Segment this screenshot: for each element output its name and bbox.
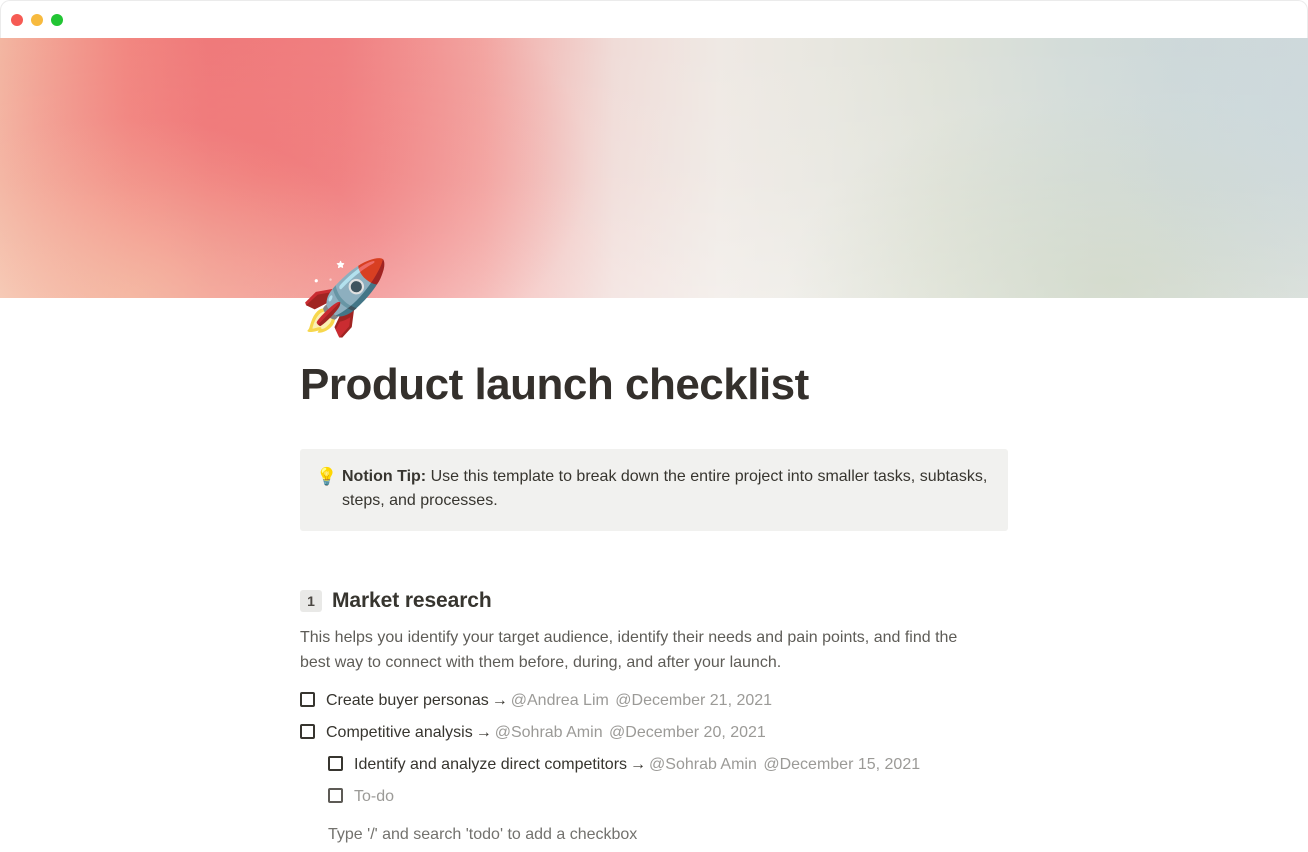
callout-body: Use this template to break down the enti…	[342, 468, 987, 509]
person-mention[interactable]: @Sohrab Amin	[649, 756, 757, 773]
callout-text: Notion Tip: Use this template to break d…	[342, 465, 992, 513]
todo-content[interactable]: Create buyer personas→@Andrea Lim @Decem…	[326, 687, 772, 715]
rocket-icon[interactable]: 🚀	[300, 258, 380, 338]
date-mention[interactable]: @December 21, 2021	[615, 692, 772, 709]
person-mention[interactable]: @Sohrab Amin	[495, 724, 603, 741]
todo-placeholder[interactable]: To-do	[354, 783, 394, 811]
todo-item[interactable]: To-do	[300, 781, 1008, 813]
todo-checkbox[interactable]	[300, 724, 315, 739]
todo-checkbox[interactable]	[300, 692, 315, 707]
arrow-icon: →	[489, 692, 511, 709]
todo-content[interactable]: Competitive analysis→@Sohrab Amin @Decem…	[326, 719, 766, 747]
todo-checkbox[interactable]	[328, 756, 343, 771]
cover-blob-blue	[1099, 38, 1308, 298]
page-title[interactable]: Product launch checklist	[300, 360, 1008, 411]
section-market-research: 1 Market research This helps you identif…	[300, 589, 1008, 849]
notion-tip-callout[interactable]: 💡 Notion Tip: Use this template to break…	[300, 449, 1008, 531]
todo-hint-text: Type '/' and search 'todo' to add a chec…	[300, 821, 1008, 849]
minimize-button[interactable]	[31, 14, 43, 26]
todo-item[interactable]: Identify and analyze direct competitors→…	[300, 749, 1008, 781]
arrow-icon: →	[473, 724, 495, 741]
todo-content[interactable]: Identify and analyze direct competitors→…	[354, 751, 920, 779]
date-mention[interactable]: @December 20, 2021	[609, 724, 766, 741]
todo-list: Create buyer personas→@Andrea Lim @Decem…	[300, 685, 1008, 813]
section-heading: 1 Market research	[300, 589, 1008, 613]
app-window: 🚀 Product launch checklist 💡 Notion Tip:…	[0, 0, 1308, 852]
todo-label: Identify and analyze direct competitors	[354, 756, 627, 773]
page-cover-image[interactable]	[0, 38, 1308, 298]
window-controls	[11, 14, 63, 26]
section-title[interactable]: Market research	[332, 589, 492, 613]
todo-label: Create buyer personas	[326, 692, 489, 709]
date-mention[interactable]: @December 15, 2021	[763, 756, 920, 773]
callout-bold-label: Notion Tip:	[342, 468, 426, 485]
page-body: Product launch checklist 💡 Notion Tip: U…	[0, 298, 1308, 852]
section-description[interactable]: This helps you identify your target audi…	[300, 625, 990, 675]
close-button[interactable]	[11, 14, 23, 26]
section-number-badge: 1	[300, 590, 322, 612]
todo-item[interactable]: Competitive analysis→@Sohrab Amin @Decem…	[300, 717, 1008, 749]
todo-item[interactable]: Create buyer personas→@Andrea Lim @Decem…	[300, 685, 1008, 717]
window-title-bar	[0, 0, 1308, 38]
arrow-icon: →	[627, 756, 649, 773]
page-content: Product launch checklist 💡 Notion Tip: U…	[300, 298, 1008, 849]
todo-label: Competitive analysis	[326, 724, 473, 741]
person-mention[interactable]: @Andrea Lim	[511, 692, 609, 709]
maximize-button[interactable]	[51, 14, 63, 26]
todo-checkbox[interactable]	[328, 788, 343, 803]
lightbulb-icon: 💡	[316, 465, 342, 489]
